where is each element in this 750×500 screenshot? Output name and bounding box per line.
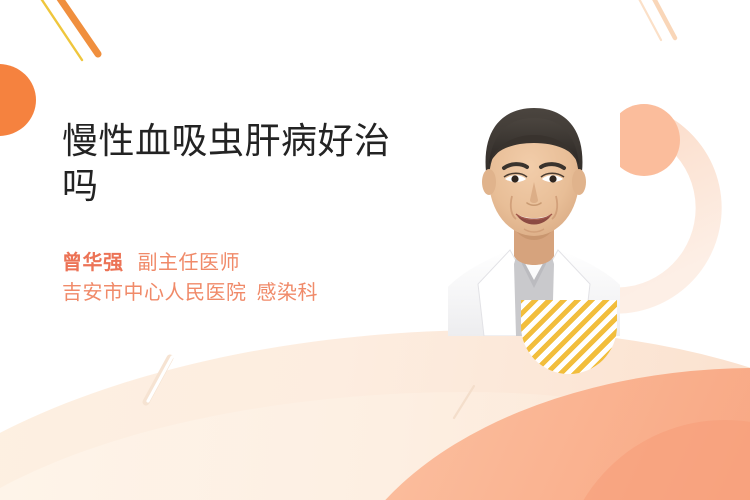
striped-disc-decoration [521,300,617,374]
page-title: 慢性血吸虫肝病好治吗 [62,118,422,208]
diagonal-stripe-lower-middle-icon [128,352,192,410]
doctor-portrait [448,88,620,336]
diagonal-stripe-lower-right-icon [440,380,490,426]
diagonal-stripes-top-right-icon [625,0,695,74]
doctor-affiliation-row: 吉安市中心人民医院 感染科 [62,278,462,308]
doctor-name: 曾华强 [62,248,124,278]
video-cover-card: 慢性血吸虫肝病好治吗 曾华强 副主任医师 吉安市中心人民医院 感染科 [0,0,750,500]
doctor-info: 曾华强 副主任医师 吉安市中心人民医院 感染科 [62,248,462,308]
doctor-name-row: 曾华强 副主任医师 [62,248,462,278]
stripe-pattern [521,300,617,374]
doctor-department: 感染科 [257,278,319,308]
doctor-hospital: 吉安市中心人民医院 [62,278,247,308]
doctor-title: 副主任医师 [138,248,241,278]
diagonal-stripes-top-left-icon [28,0,118,72]
